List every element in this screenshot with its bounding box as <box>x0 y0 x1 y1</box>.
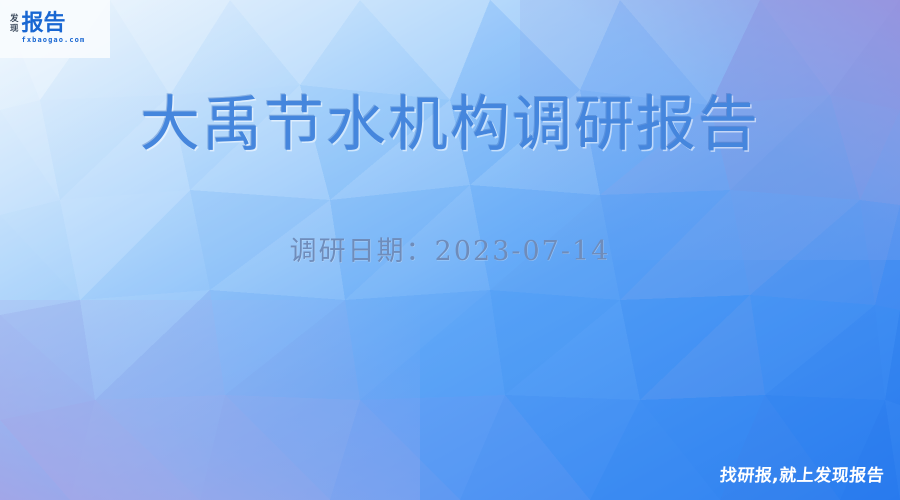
logo-wordmark: 报告 <box>22 13 86 35</box>
brand-logo-inner: 发 现 报告 fxbaogao.com <box>10 13 85 45</box>
brand-logo[interactable]: 发 现 报告 fxbaogao.com <box>0 0 110 58</box>
title-block: 大禹节水机构调研报告 <box>0 88 900 162</box>
footer-tagline: 找研报,就上发现报告 <box>718 461 885 486</box>
logo-url: fxbaogao.com <box>22 36 86 45</box>
survey-date: 调研日期：2023-07-14 <box>0 234 900 270</box>
page-title: 大禹节水机构调研报告 <box>0 88 900 162</box>
logo-stacked-characters: 发 现 <box>10 13 19 34</box>
report-cover-slide: 发 现 报告 fxbaogao.com 大禹节水机构调研报告 调研日期：2023… <box>0 0 900 500</box>
logo-wordmark-wrap: 报告 fxbaogao.com <box>22 13 86 45</box>
logo-char-xian: 现 <box>10 25 19 35</box>
subtitle-block: 调研日期：2023-07-14 <box>0 234 900 270</box>
